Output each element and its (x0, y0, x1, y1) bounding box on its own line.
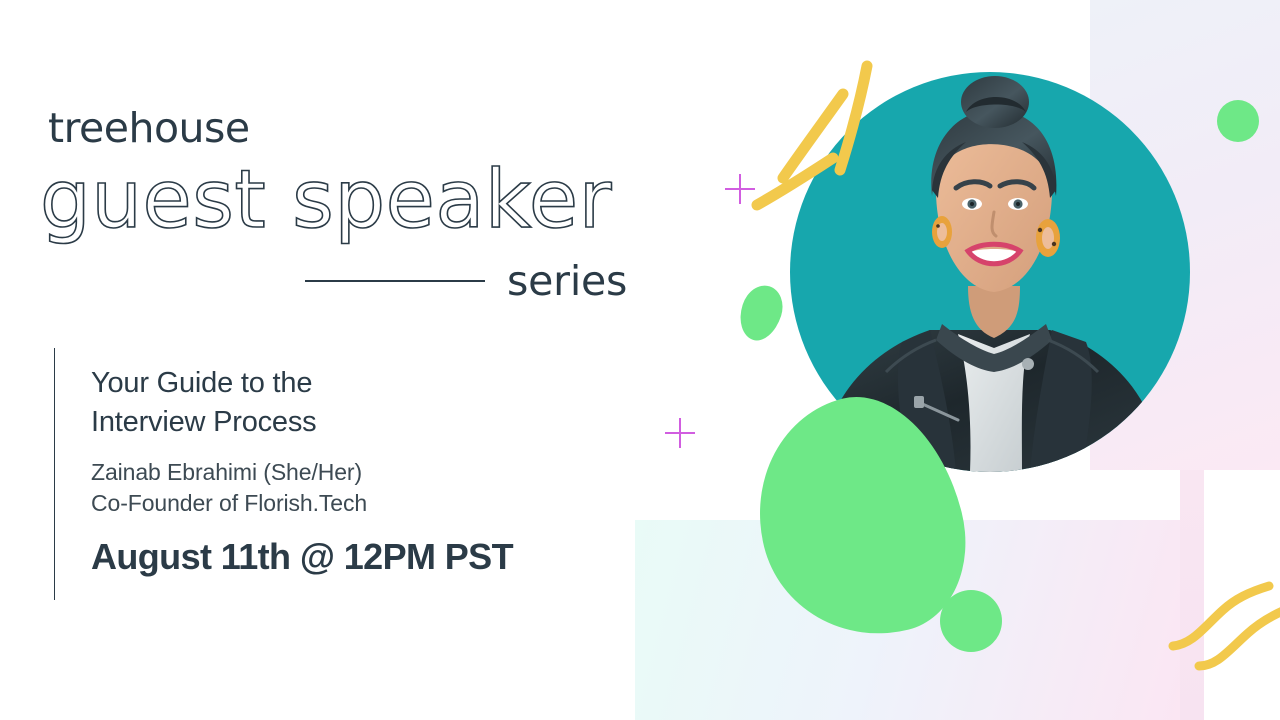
hero-outline-title: guest speaker (40, 160, 612, 240)
brand-wordmark: treehouse (48, 104, 250, 152)
green-pebble-shape (733, 280, 788, 346)
left-text-column: treehouse guest speaker series Your Guid… (0, 0, 660, 720)
event-datetime: August 11th @ 12PM PST (91, 536, 513, 578)
green-dot-shape (940, 590, 1002, 652)
speaker-role: Co-Founder of Florish.Tech (91, 488, 513, 519)
speaker-name: Zainab Ebrahimi (She/Her) (91, 457, 513, 488)
talk-title: Your Guide to the Interview Process (91, 364, 513, 441)
slide-canvas: treehouse guest speaker series Your Guid… (0, 0, 1280, 720)
series-row: series (305, 255, 635, 307)
magenta-plus-icon-top (725, 174, 755, 204)
talk-info-block: Your Guide to the Interview Process Zain… (54, 348, 513, 600)
yellow-wavy-lines (1165, 580, 1280, 700)
series-divider-rule (305, 280, 485, 282)
series-label: series (507, 257, 627, 305)
green-dot-shape-topright (1217, 100, 1259, 142)
magenta-plus-icon-bottom (665, 418, 695, 448)
